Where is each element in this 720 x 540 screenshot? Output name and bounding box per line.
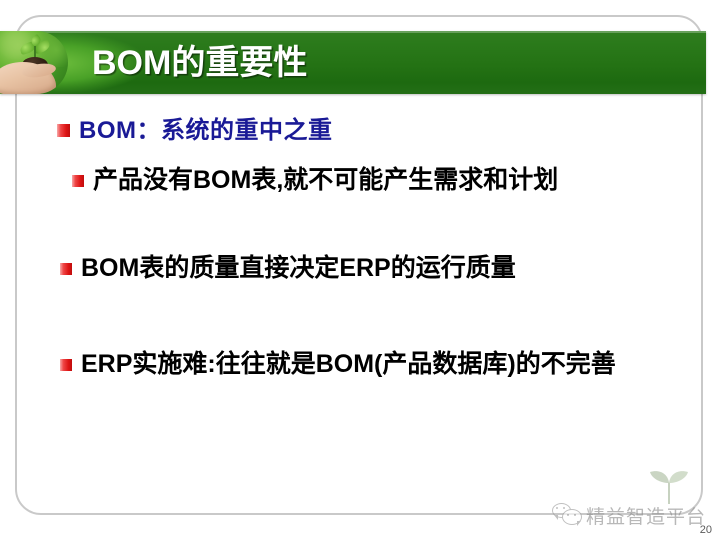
seedling-in-hands-photo	[0, 31, 68, 94]
square-bullet-icon	[72, 175, 84, 187]
bullet-label: ERP实施难:往往就是BOM(产品数据库)的不完善	[81, 348, 616, 381]
bullet-label: 产品没有BOM表,就不可能产生需求和计划	[93, 164, 558, 197]
bullet-item: 产品没有BOM表,就不可能产生需求和计划	[72, 164, 652, 197]
bullet-item: BOM表的质量直接决定ERP的运行质量	[60, 252, 660, 285]
page-number: 20	[700, 524, 712, 536]
bullet-label: BOM：系统的重中之重	[79, 116, 333, 146]
watermark-label: 精益智造平台	[586, 506, 706, 528]
square-bullet-icon	[60, 263, 72, 275]
sprout-watermark-icon	[646, 466, 692, 506]
bullet-item: ERP实施难:往往就是BOM(产品数据库)的不完善	[60, 348, 660, 381]
square-bullet-icon	[57, 124, 70, 137]
square-bullet-icon	[60, 359, 72, 371]
slide-canvas: BOM的重要性 BOM：系统的重中之重 产品没有BOM表,就不可能产生需求和计划…	[0, 0, 720, 540]
wechat-watermark: 精益智造平台	[552, 484, 706, 528]
bullet-item: BOM：系统的重中之重	[57, 116, 657, 146]
slide-title: BOM的重要性	[92, 36, 307, 90]
wechat-icon	[552, 502, 582, 526]
bullet-label: BOM表的质量直接决定ERP的运行质量	[81, 252, 516, 285]
